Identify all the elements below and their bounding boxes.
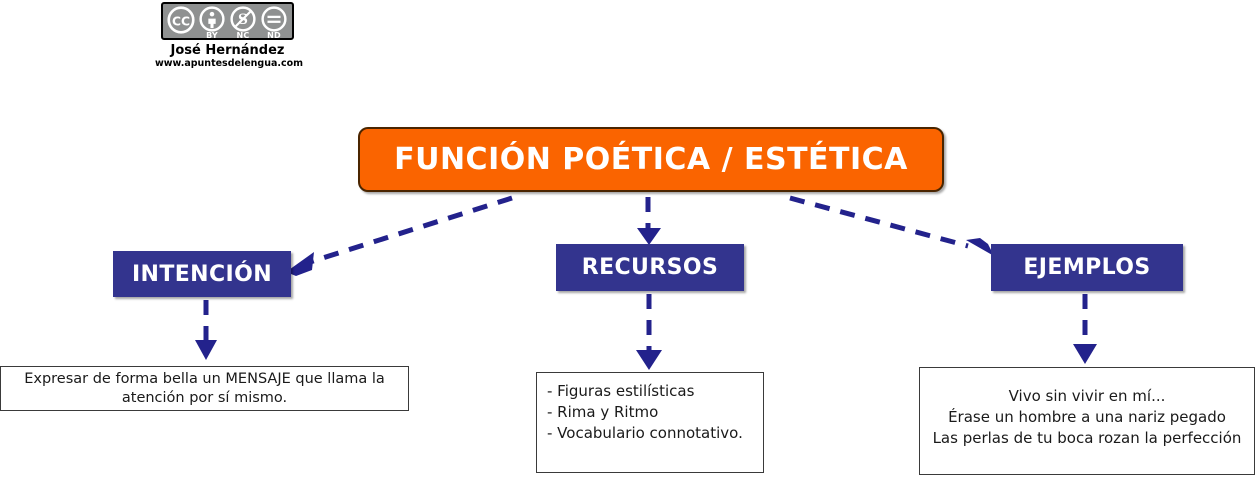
svg-text:CC: CC	[172, 14, 190, 28]
detail-line: Las perlas de tu boca rozan la perfecció…	[928, 428, 1246, 449]
author-name: José Hernández	[155, 43, 300, 58]
connector-root-to-ejemplos	[790, 198, 968, 246]
detail-line: Érase un hombre a una nariz pegado	[928, 407, 1246, 428]
detail-box-intencion: Expresar de forma bella un MENSAJE que l…	[0, 366, 409, 411]
category-label-intencion: INTENCIÓN	[132, 262, 272, 287]
category-box-ejemplos[interactable]: EJEMPLOS	[991, 244, 1183, 291]
arrowhead-recursos-detail	[636, 350, 662, 370]
root-concept-label: FUNCIÓN POÉTICA / ESTÉTICA	[394, 142, 908, 177]
cc-label-nc: NC	[237, 31, 250, 40]
detail-line: - Figuras estilísticas	[547, 381, 755, 402]
detail-line: - Rima y Ritmo	[547, 402, 755, 423]
detail-line: - Vocabulario connotativo.	[547, 423, 755, 444]
detail-line: Vivo sin vivir en mí...	[928, 386, 1246, 407]
arrowhead-recursos	[637, 228, 661, 245]
arrowhead-ejemplos-detail	[1073, 344, 1097, 364]
creative-commons-badge: CC BY S NC	[161, 2, 294, 40]
category-box-intencion[interactable]: INTENCIÓN	[113, 251, 291, 297]
cc-label-nd: ND	[267, 31, 281, 40]
creative-commons-attribution: CC BY S NC	[155, 2, 300, 69]
cc-label-blank	[180, 33, 183, 42]
connector-root-to-intencion	[310, 198, 512, 262]
category-label-ejemplos: EJEMPLOS	[1023, 255, 1150, 280]
detail-line: atención por sí mismo.	[24, 389, 385, 408]
root-concept-box[interactable]: FUNCIÓN POÉTICA / ESTÉTICA	[358, 127, 944, 192]
author-website[interactable]: www.apuntesdelengua.com	[155, 58, 300, 69]
cc-icon: CC	[166, 6, 196, 42]
category-box-recursos[interactable]: RECURSOS	[556, 244, 744, 291]
detail-text-intencion: Expresar de forma bella un MENSAJE que l…	[24, 370, 385, 408]
cc-label-by: BY	[206, 31, 218, 40]
nd-noderivatives-icon: ND	[259, 6, 289, 40]
arrowhead-ejemplos	[966, 238, 994, 256]
diagram-canvas: CC BY S NC	[0, 0, 1256, 485]
category-label-recursos: RECURSOS	[582, 255, 719, 280]
detail-line: Expresar de forma bella un MENSAJE que l…	[24, 370, 385, 389]
by-person-icon: BY	[197, 6, 227, 40]
nc-nocommercial-icon: S NC	[228, 6, 258, 40]
detail-box-ejemplos: Vivo sin vivir en mí... Érase un hombre …	[919, 367, 1255, 475]
detail-box-recursos: - Figuras estilísticas - Rima y Ritmo - …	[536, 372, 764, 473]
arrowhead-intencion-detail	[195, 340, 217, 360]
